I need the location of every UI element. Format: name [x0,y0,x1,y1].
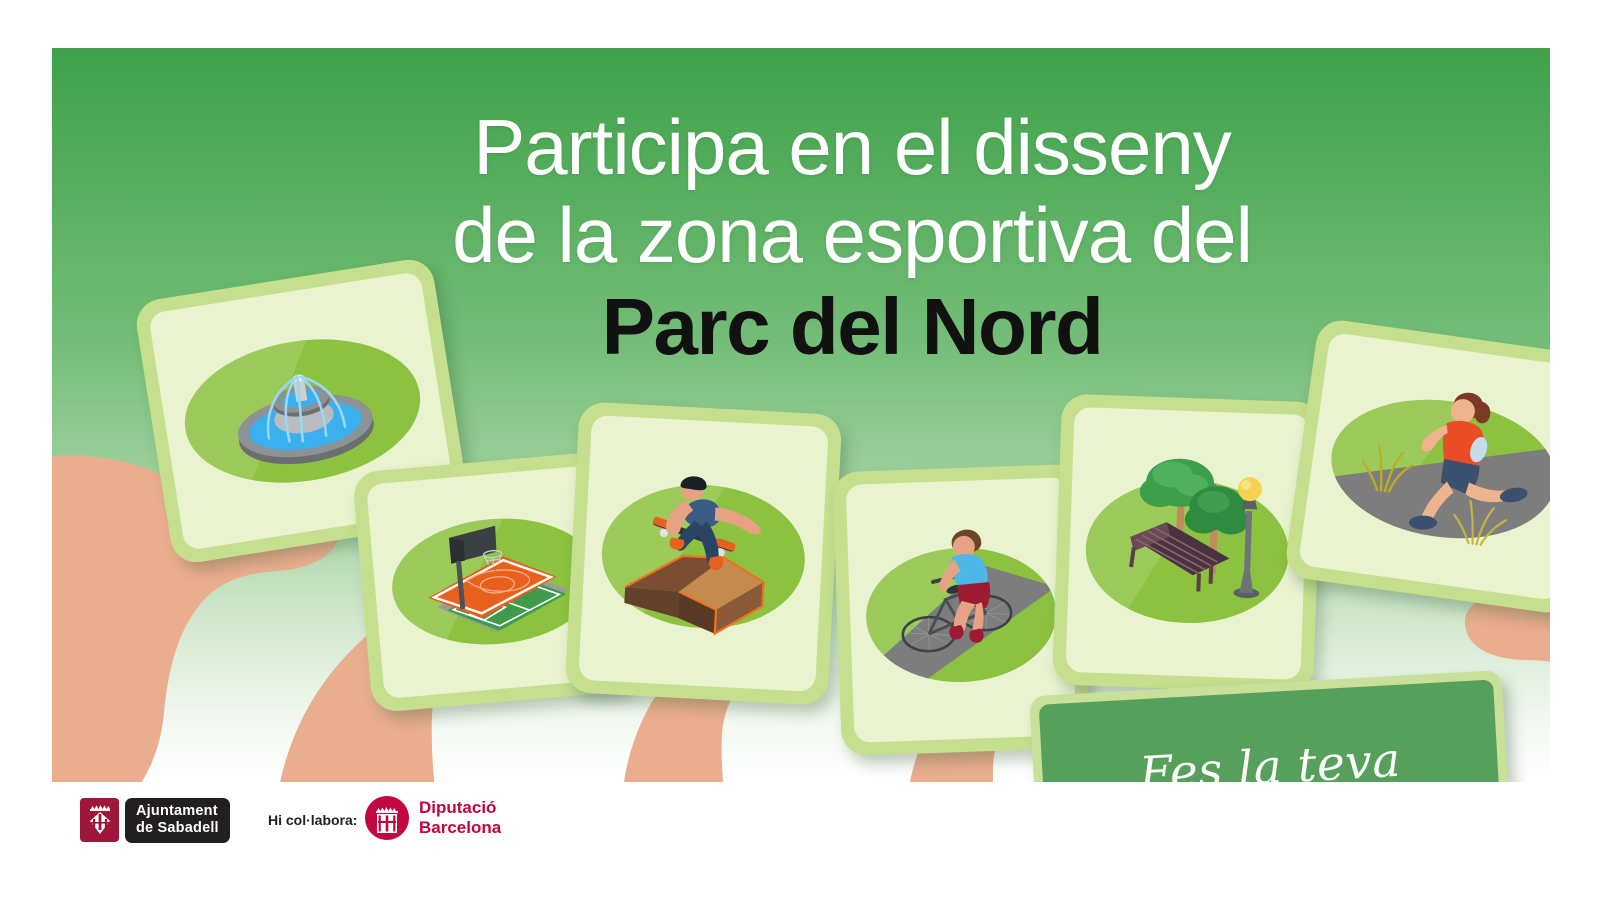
bench-card-inner [1065,407,1309,680]
ajuntament-name-box: Ajuntament de Sabadell [125,798,230,843]
diputacio-text: Diputació Barcelona [419,798,501,838]
skate-park-card[interactable] [565,401,843,705]
headline-line-1: Participa en el disseny [52,110,1550,186]
bench-trees-lamp-icon [1065,407,1309,680]
ajuntament-line-2: de Sabadell [136,820,219,837]
park-bench-card[interactable] [1052,394,1323,694]
green-gradient-panel: Participa en el disseny de la zona espor… [52,48,1550,782]
running-card-inner [1298,332,1550,601]
sabadell-coat-of-arms-icon [80,798,119,842]
collaborate-label: Hi col·labora: [268,812,357,828]
footer-logo-bar: Ajuntament de Sabadell Hi col·labora: [0,782,1600,900]
poster-root: Participa en el disseny de la zona espor… [0,0,1600,900]
diputacio-barcelona-logo[interactable]: Diputació Barcelona [365,796,501,840]
diputacio-barcelona-emblem-icon [365,796,409,840]
diputacio-line-2: Barcelona [419,818,501,838]
skate-park-card-inner [578,415,829,692]
ajuntament-de-sabadell-logo[interactable]: Ajuntament de Sabadell [80,798,230,843]
diputacio-line-1: Diputació [419,798,501,818]
ajuntament-line-1: Ajuntament [136,803,219,820]
headline-line-2: de la zona esportiva del [52,198,1550,274]
runner-icon [1298,332,1550,601]
skateboarder-ramp-icon [578,415,829,692]
running-path-card[interactable] [1283,317,1550,616]
